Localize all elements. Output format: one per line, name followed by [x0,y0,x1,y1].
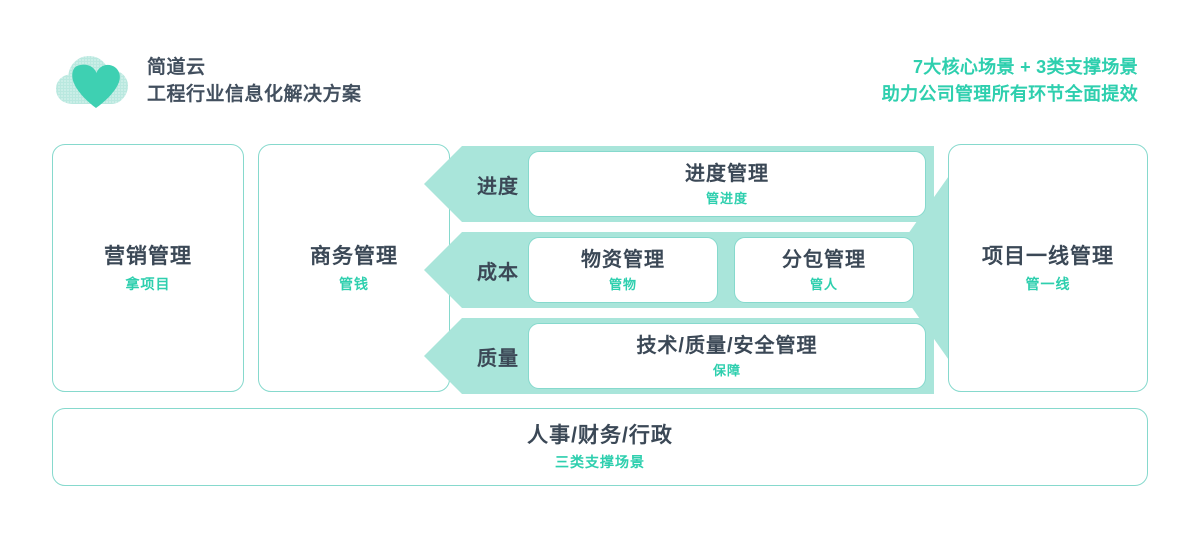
infographic-page: 简道云 工程行业信息化解决方案 7大核心场景 + 3类支撑场景 助力公司管理所有… [0,0,1200,539]
stage-row-cost: 成本 物资管理 管物 分包管理 管人 [424,232,934,308]
stage-box-subtitle: 保障 [713,363,741,379]
pillar-title: 商务管理 [310,244,398,269]
stage-box-title: 物资管理 [581,248,665,272]
stage-box-title: 进度管理 [685,162,769,186]
pillar-title: 项目一线管理 [982,244,1114,269]
pillar-card-business[interactable]: 商务管理 管钱 [258,144,450,392]
support-card-subtitle: 三类支撑场景 [555,454,645,471]
pillar-subtitle: 拿项目 [126,276,171,293]
stage-box-title: 技术/质量/安全管理 [636,334,817,358]
stage-box-subtitle: 管物 [609,277,637,293]
stage-label-cost: 成本 [462,232,534,308]
stage-row-progress: 进度 进度管理 管进度 [424,146,934,222]
stage-box-material-management[interactable]: 物资管理 管物 [528,237,718,303]
support-card-hr-finance-admin[interactable]: 人事/财务/行政 三类支撑场景 [52,408,1148,486]
stage-label-progress: 进度 [462,146,534,222]
solution-diagram: 营销管理 拿项目 商务管理 管钱 进度 进度管理 管进度 成本 物资管理 管物 [0,0,1200,539]
pillar-title: 营销管理 [104,244,192,269]
stage-box-tech-quality-safety-management[interactable]: 技术/质量/安全管理 保障 [528,323,926,389]
stage-row-quality: 质量 技术/质量/安全管理 保障 [424,318,934,394]
stage-box-subcontract-management[interactable]: 分包管理 管人 [734,237,914,303]
pillar-card-frontline[interactable]: 项目一线管理 管一线 [948,144,1148,392]
stage-box-title: 分包管理 [782,248,866,272]
stage-box-subtitle: 管人 [810,277,838,293]
stage-label-quality: 质量 [462,318,534,394]
pillar-card-marketing[interactable]: 营销管理 拿项目 [52,144,244,392]
stage-box-progress-management[interactable]: 进度管理 管进度 [528,151,926,217]
support-card-title: 人事/财务/行政 [527,423,673,448]
pillar-subtitle: 管一线 [1026,276,1071,293]
pillar-subtitle: 管钱 [339,276,369,293]
stage-box-subtitle: 管进度 [706,191,748,207]
